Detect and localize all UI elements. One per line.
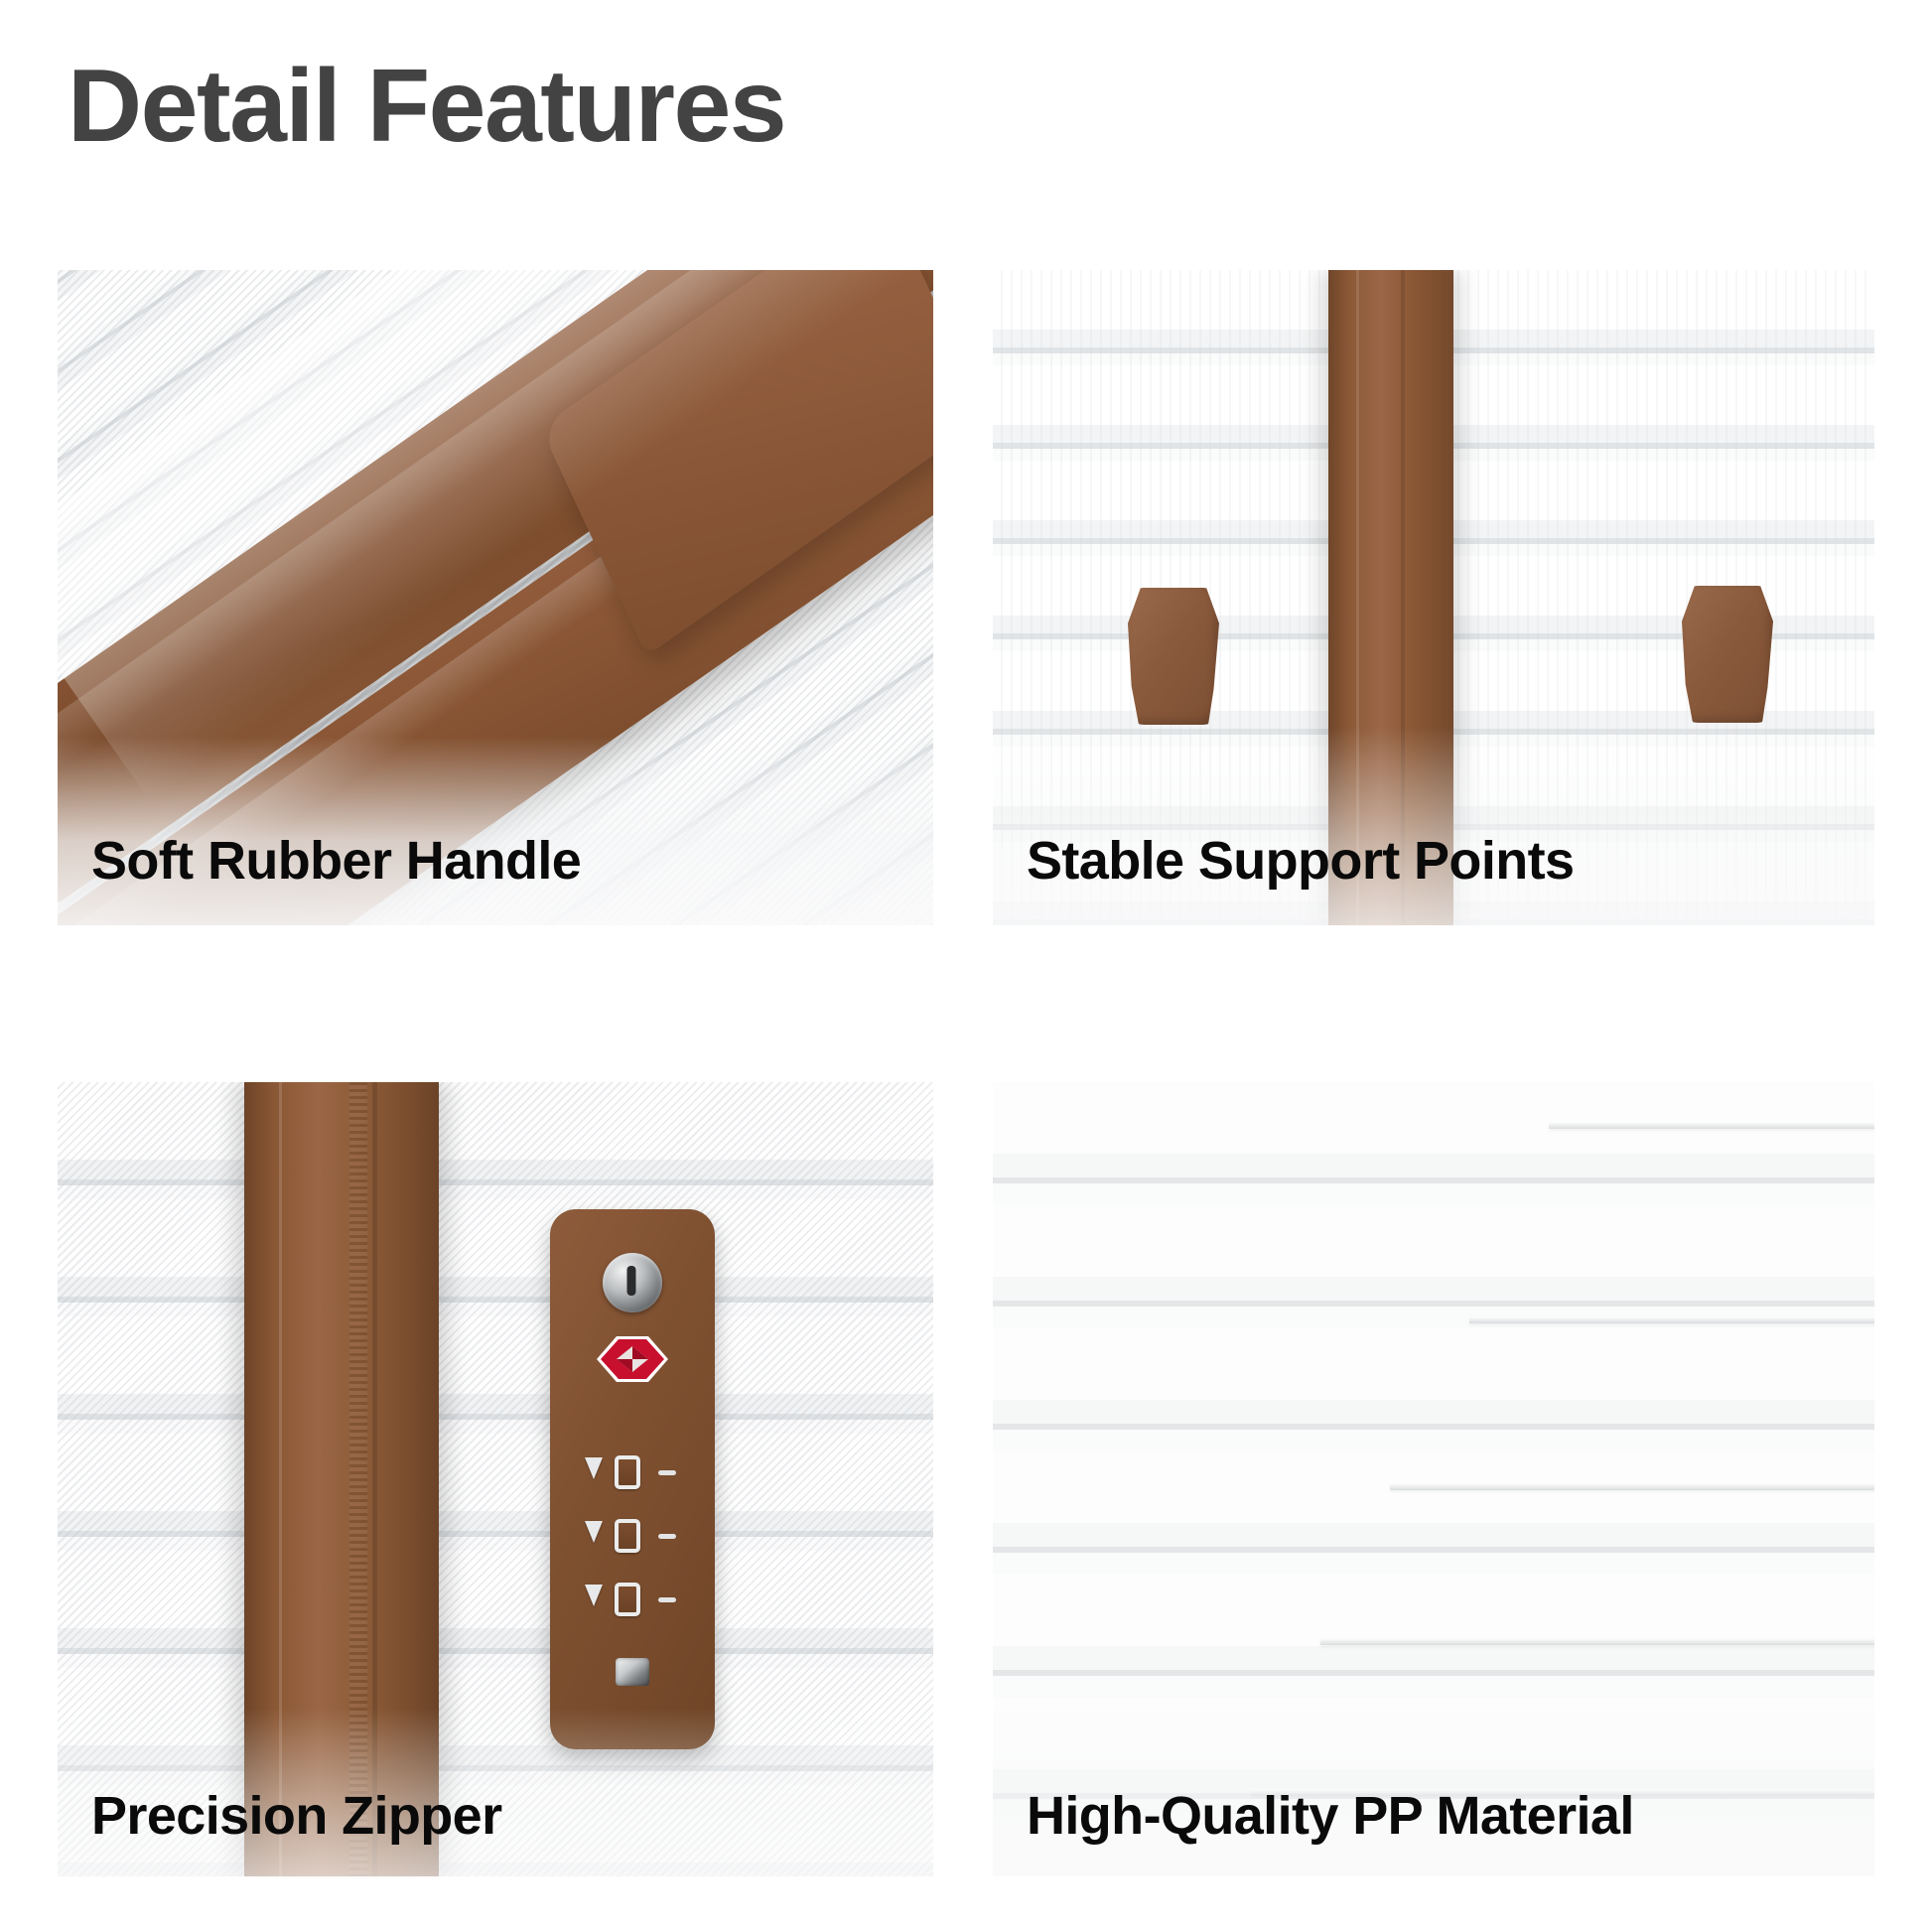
dial-arrow-icon [585, 1457, 603, 1479]
tsa-logo-icon [595, 1334, 670, 1384]
dial-dash-icon [658, 1597, 676, 1602]
tsa-lock-plate[interactable] [550, 1209, 715, 1749]
feature-panel-soft-rubber-handle[interactable]: Soft Rubber Handle [58, 270, 933, 925]
ridge-step-3 [1390, 1483, 1874, 1490]
dial-window [615, 1583, 640, 1616]
support-foot-right-icon [1682, 586, 1773, 723]
feature-panel-stable-support-points[interactable]: Stable Support Points [993, 270, 1874, 925]
panel-caption-high-quality-pp-material: High-Quality PP Material [1027, 1785, 1634, 1847]
page-title: Detail Features [68, 46, 785, 168]
dial-arrow-icon [585, 1585, 603, 1606]
dial-window [615, 1455, 640, 1489]
lock-reset-button[interactable] [616, 1658, 649, 1686]
dial-dash-icon [658, 1470, 676, 1475]
ridge-step-2 [1469, 1316, 1874, 1323]
dial-window [615, 1519, 640, 1553]
feature-panel-high-quality-pp-material[interactable]: High-Quality PP Material [993, 1082, 1874, 1876]
panel-caption-precision-zipper: Precision Zipper [91, 1785, 502, 1847]
caption-scrim [993, 727, 1874, 925]
combination-dial-2[interactable] [585, 1519, 680, 1553]
feature-panel-precision-zipper[interactable]: Precision Zipper [58, 1082, 933, 1876]
support-foot-left-icon [1128, 588, 1219, 725]
combination-dial-3[interactable] [585, 1583, 680, 1616]
combination-dial-1[interactable] [585, 1455, 680, 1489]
ridge-step-1 [1549, 1122, 1874, 1129]
lock-keyhole-icon[interactable] [603, 1253, 662, 1312]
panel-caption-soft-rubber-handle: Soft Rubber Handle [91, 830, 581, 892]
dial-arrow-icon [585, 1521, 603, 1543]
ridge-step-4 [1320, 1638, 1874, 1645]
dial-dash-icon [658, 1534, 676, 1539]
panel-caption-stable-support-points: Stable Support Points [1027, 830, 1574, 892]
